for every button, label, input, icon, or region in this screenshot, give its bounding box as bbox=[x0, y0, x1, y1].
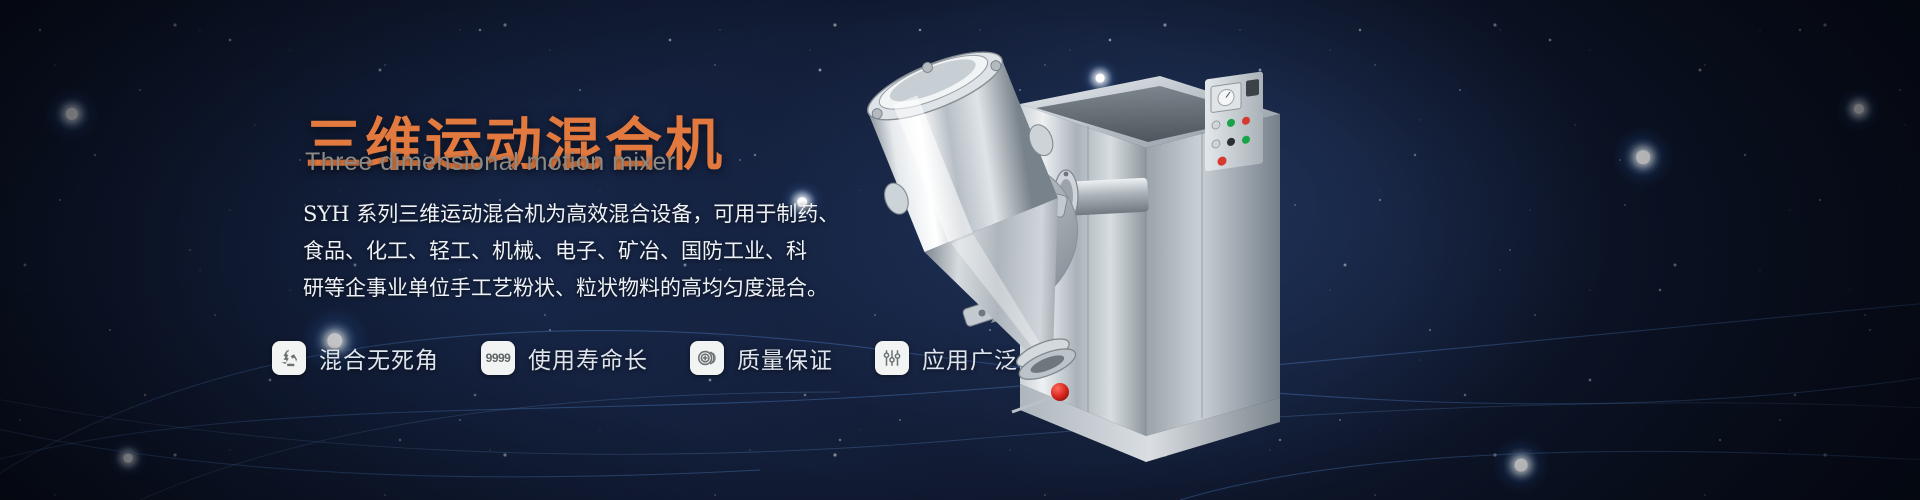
feature-item-long-life[interactable]: 9999 使用寿命长 bbox=[481, 341, 648, 375]
description-line-1: SYH 系列三维运动混合机为高效混合设备，可用于制药、 bbox=[303, 196, 823, 233]
feature-item-quality-guarantee[interactable]: 质量保证 bbox=[690, 341, 833, 375]
description-line-2: 食品、化工、轻工、机械、电子、矿冶、国防工业、科 bbox=[303, 233, 823, 270]
recycle-icon bbox=[272, 341, 306, 375]
product-description: SYH 系列三维运动混合机为高效混合设备，可用于制药、 食品、化工、轻工、机械、… bbox=[303, 196, 823, 307]
description-line-3: 研等企事业单位手工艺粉状、粒状物料的高均匀度混合。 bbox=[303, 270, 823, 307]
counter-value: 9999 bbox=[486, 351, 511, 365]
feature-label: 应用广泛 bbox=[922, 341, 1018, 375]
counter-9999-icon: 9999 bbox=[481, 341, 515, 375]
feature-label: 混合无死角 bbox=[319, 341, 439, 375]
feature-list: 混合无死角 9999 使用寿命长 bbox=[272, 341, 1018, 375]
page-subtitle: Three dimensional motion mixer bbox=[305, 148, 676, 177]
quality-seal-icon bbox=[690, 341, 724, 375]
feature-item-no-dead-angle[interactable]: 混合无死角 bbox=[272, 341, 439, 375]
feature-item-wide-application[interactable]: 应用广泛 bbox=[875, 341, 1018, 375]
feature-label: 使用寿命长 bbox=[528, 341, 648, 375]
product-hero-banner: 三维运动混合机 Three dimensional motion mixer S… bbox=[0, 0, 1920, 500]
sliders-icon bbox=[875, 341, 909, 375]
feature-label: 质量保证 bbox=[737, 341, 833, 375]
banner-content: 三维运动混合机 Three dimensional motion mixer S… bbox=[0, 0, 1920, 500]
